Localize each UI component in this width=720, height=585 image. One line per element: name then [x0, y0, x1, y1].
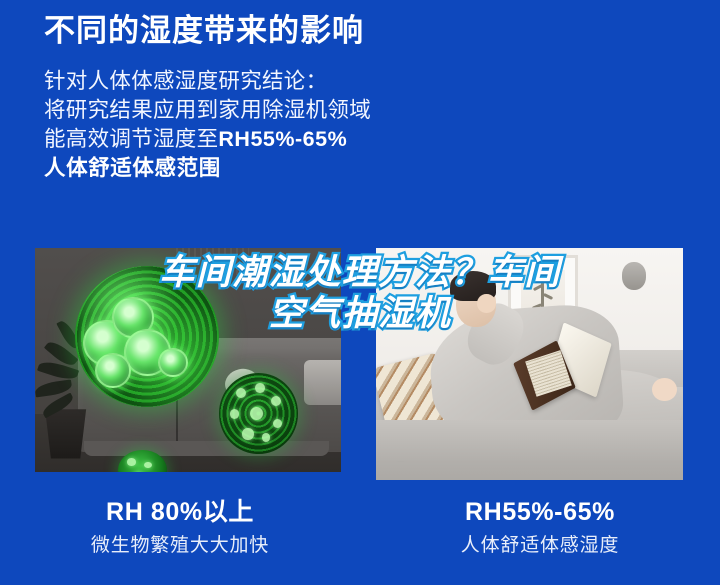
intro-line-1: 针对人体体感湿度研究结论：	[44, 67, 684, 96]
photo-band	[0, 246, 720, 482]
page-title: 不同的湿度带来的影响	[44, 12, 684, 51]
intro-paragraph: 针对人体体感湿度研究结论： 将研究结果应用到家用除湿机领域 能高效调节湿度至RH…	[44, 67, 684, 184]
intro-line-2: 将研究结果应用到家用除湿机领域	[44, 96, 684, 125]
caption-left: RH 80%以上 微生物繁殖大大加快	[0, 496, 360, 582]
caption-left-subtitle: 微生物繁殖大大加快	[0, 533, 360, 559]
microbe-spike	[255, 383, 265, 393]
microbe-spike	[273, 419, 283, 429]
microbe-spike	[242, 428, 253, 439]
poster-canvas: 不同的湿度带来的影响 针对人体体感湿度研究结论： 将研究结果应用到家用除湿机领域…	[0, 0, 720, 585]
person-hand	[477, 294, 495, 313]
left-photo-wall-panel	[176, 248, 249, 275]
microbe-cell	[95, 353, 131, 388]
right-photo-sofa-seat	[376, 420, 683, 462]
microbe-cluster-large	[75, 266, 219, 407]
caption-right-subtitle: 人体舒适体感湿度	[360, 533, 720, 559]
intro-line-4: 人体舒适体感范围	[44, 154, 684, 183]
caption-row: RH 80%以上 微生物繁殖大大加快 RH55%-65% 人体舒适体感湿度	[0, 496, 720, 582]
microbe-cell	[158, 348, 188, 377]
microbe-spike	[250, 407, 263, 420]
wall-speaker	[622, 262, 647, 290]
microbe-spike	[271, 396, 281, 406]
microbe-cluster-small	[219, 373, 299, 454]
microbe-spike	[230, 409, 240, 419]
left-photo-armrest	[304, 360, 341, 405]
microbe-spike	[262, 433, 271, 442]
caption-right-title: RH55%-65%	[360, 496, 720, 529]
person-foot	[652, 378, 677, 401]
intro-line-3: 能高效调节湿度至RH55%-65%	[44, 125, 684, 154]
intro-line-3-prefix: 能高效调节湿度至	[44, 127, 218, 151]
microbe-spike	[144, 462, 152, 468]
comfort-room-photo	[376, 248, 683, 480]
caption-left-title: RH 80%以上	[0, 496, 360, 529]
caption-right: RH55%-65% 人体舒适体感湿度	[360, 496, 720, 582]
microbe-spike	[127, 458, 136, 465]
microbe-spike	[236, 388, 246, 398]
header-block: 不同的湿度带来的影响 针对人体体感湿度研究结论： 将研究结果应用到家用除湿机领域…	[44, 12, 684, 184]
left-photo-sofa-base	[84, 441, 329, 457]
intro-humidity-value: RH55%-65%	[218, 127, 347, 151]
mold-room-photo	[35, 248, 341, 472]
